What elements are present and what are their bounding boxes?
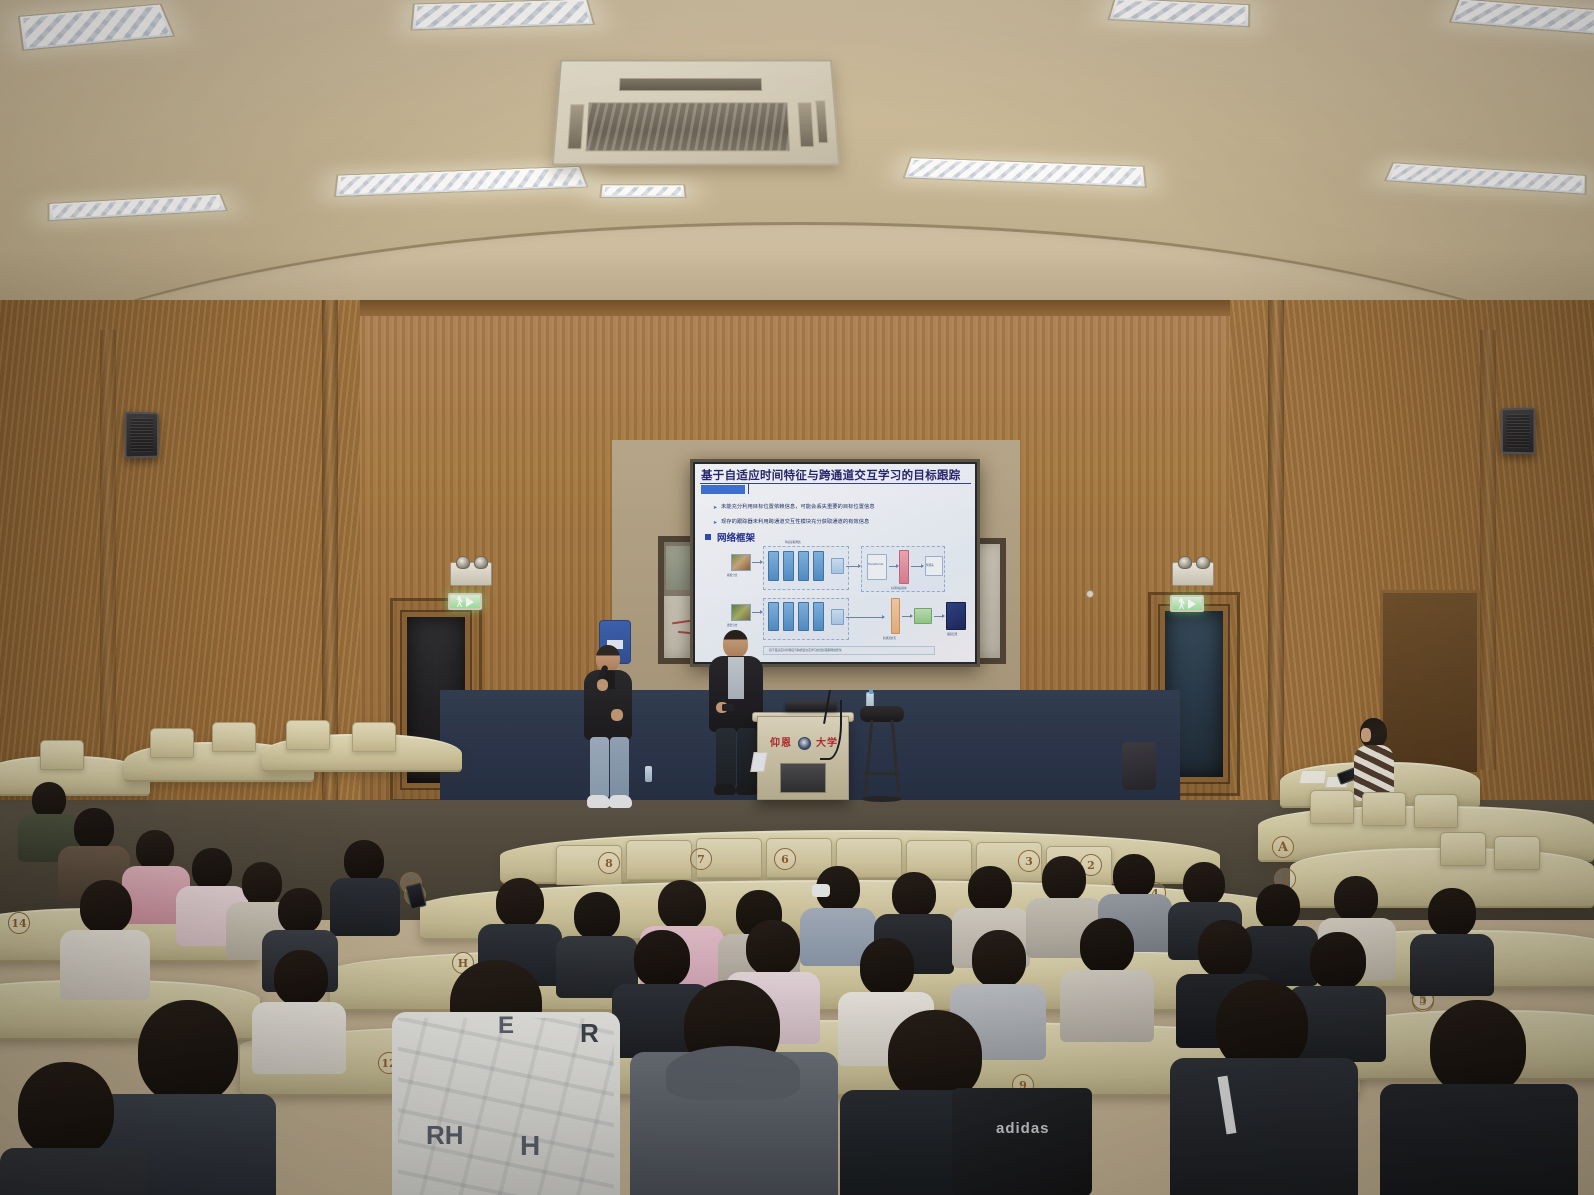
lecture-hall-photo: 基于自适应时间特征与跨通道交互学习的目标跟踪 ➤ 未能充分利用目标位置依赖信息，… [0, 0, 1594, 1195]
diagram-crosschannel-module [891, 598, 900, 634]
emergency-light-right [1172, 562, 1214, 586]
diagram-conv-block [768, 602, 779, 631]
seat-number: 6 [774, 848, 796, 870]
diagram-label-neck: Transformer [868, 563, 884, 566]
slide-text-caret [748, 484, 749, 494]
seated-audience-member [60, 880, 152, 990]
stool-base [862, 796, 902, 802]
seated-audience-member [0, 1062, 150, 1195]
diagram-template-image [731, 554, 751, 571]
jacket-letter: RH [426, 1120, 464, 1151]
bullet-marker-icon: ➤ [713, 505, 718, 510]
seat-number: 8 [598, 852, 620, 874]
torso [0, 1148, 148, 1195]
emergency-lamp [456, 556, 470, 569]
head [1042, 856, 1086, 902]
diagram-pool-block [831, 609, 844, 625]
diagram-arrow [752, 612, 762, 613]
stool-leg [864, 720, 874, 798]
emergency-lamp [474, 556, 488, 569]
diagram-conv-block [768, 551, 779, 581]
wall-pillar [100, 330, 116, 770]
diagram-label-module-b: 跨通道交互 [883, 636, 896, 640]
chair-floor-right [1122, 742, 1156, 790]
backpack [952, 1088, 1092, 1195]
diagram-label-head: 预测头 [926, 563, 934, 567]
ac-side-slot [567, 104, 584, 149]
leg-jeans [610, 737, 629, 799]
slide-bullet: 现存的跟踪器未利用跨通道交互性模块充分获取通道的有效信息 [721, 519, 969, 525]
diagram-conv-block [813, 551, 824, 581]
seat-back [1440, 832, 1486, 866]
presentation-clicker[interactable] [722, 704, 734, 711]
seat-back [286, 720, 330, 750]
ac-side-slot [815, 100, 828, 143]
face-mask-icon [812, 884, 830, 897]
bar-stool [860, 706, 904, 802]
diagram-pool-block [831, 558, 844, 574]
stool-footrest [864, 772, 900, 775]
emergency-light-left [450, 562, 492, 586]
seated-audience-member [1410, 888, 1496, 988]
head [1334, 876, 1378, 922]
seat-back [1494, 836, 1540, 870]
diagram-temporal-module [899, 550, 909, 584]
torso [1170, 1058, 1358, 1195]
diagram-fusion-block [914, 608, 932, 624]
seat-number: 7 [690, 848, 712, 870]
diagram-transformer-block [867, 554, 887, 580]
seated-audience-member [1060, 918, 1156, 1034]
face [1361, 728, 1371, 742]
head [1430, 1000, 1526, 1096]
torso [1410, 934, 1494, 996]
jacket-letter: H [520, 1130, 540, 1162]
ac-side-slot [797, 102, 814, 147]
head [1113, 854, 1155, 898]
seat-back [40, 740, 84, 770]
diagram-caption: 基于自适应时间特征与跨通道交互学习的目标跟踪网络框架 [769, 648, 842, 652]
leg-jeans [590, 737, 609, 799]
emergency-lamp [1178, 556, 1192, 569]
diagram-arrow [902, 616, 912, 617]
shoe [609, 795, 632, 808]
diagram-label-output: 跟踪结果 [947, 632, 957, 636]
head [892, 872, 936, 918]
wall-pillar [1268, 300, 1284, 800]
emergency-exit-sign-right [1170, 595, 1204, 612]
diagram-arrow [934, 616, 944, 617]
hand [597, 679, 608, 691]
hand [611, 709, 623, 721]
bullet-marker-icon: ➤ [713, 520, 718, 525]
seated-audience-member [330, 840, 402, 932]
diagram-output-image [946, 602, 966, 630]
ac-grille [586, 102, 791, 151]
diagram-label-backbone: 特征提取网络 [785, 540, 801, 544]
wall-sensor-icon [1086, 590, 1094, 598]
head [1428, 888, 1476, 938]
head [1183, 862, 1225, 906]
diagram-arrow [889, 566, 898, 567]
diagram-arrow [846, 566, 860, 567]
paper-on-desk [1299, 770, 1327, 784]
ceiling-cassette-air-conditioner [552, 60, 841, 166]
diagram-conv-block [783, 602, 794, 631]
hoodie-hood [666, 1046, 800, 1100]
head [746, 920, 800, 976]
diagram-conv-block [798, 551, 809, 581]
diagram-conv-block [813, 602, 824, 631]
diagram-arrow [911, 566, 923, 567]
seat-back [352, 722, 396, 752]
seated-audience-member: RH H E R [392, 960, 622, 1195]
head [968, 866, 1012, 912]
seat-number: 14 [8, 912, 30, 934]
seated-audience-member [1380, 1000, 1580, 1195]
diagram-arrow [846, 617, 884, 618]
head [723, 630, 748, 658]
shoe [587, 795, 610, 808]
slide-bullet: 未能充分利用目标位置依赖信息，可能会丢失重要的目标位置信息 [721, 504, 969, 510]
torso [330, 878, 400, 936]
ac-vent [619, 78, 762, 91]
head [80, 880, 132, 934]
water-bottle-floor [645, 766, 652, 782]
stool-seat [860, 706, 904, 722]
head [274, 950, 328, 1006]
exit-arrow-icon [466, 597, 474, 607]
seat-back [150, 728, 194, 758]
diagram-conv-block [783, 551, 794, 581]
head [658, 880, 706, 930]
ceiling-light-panel [599, 184, 687, 198]
head [1198, 920, 1252, 978]
wall-speaker-left [125, 412, 159, 459]
seat-back [1414, 794, 1458, 828]
torso [1380, 1084, 1578, 1195]
seated-audience-member [1170, 980, 1360, 1195]
torso [60, 930, 150, 1000]
head [344, 840, 384, 882]
head [74, 808, 114, 850]
diagram-arrow [752, 562, 762, 563]
slide-text-selection [701, 485, 745, 494]
head [278, 888, 322, 934]
leg-trousers [716, 728, 736, 788]
running-man-icon [456, 596, 463, 607]
slide-title: 基于自适应时间特征与跨通道交互学习的目标跟踪 [701, 469, 969, 482]
wall-pillar [1480, 330, 1496, 770]
shoe [736, 784, 758, 795]
diagram-conv-block [798, 602, 809, 631]
diagram-search-image [731, 604, 751, 621]
wall-speaker-right [1501, 408, 1535, 455]
podium-front-panel [780, 763, 826, 793]
seat-back [1362, 792, 1406, 826]
emergency-exit-sign-left [448, 593, 482, 610]
head [18, 1062, 114, 1158]
emergency-lamp [1196, 556, 1210, 569]
diagram-label-search-branch: 搜索分支 [727, 623, 737, 627]
section-bullet-icon [705, 534, 711, 540]
head [138, 1000, 238, 1104]
head [860, 938, 914, 996]
seat-back [1310, 790, 1354, 824]
head [496, 878, 544, 928]
presenter-with-microphone [578, 645, 642, 815]
jacket-letter: R [580, 1018, 599, 1049]
head [136, 830, 174, 870]
seated-audience-member [630, 980, 840, 1195]
exit-arrow-icon [1188, 599, 1196, 609]
running-man-icon [1178, 598, 1185, 609]
torso [1060, 970, 1154, 1042]
head [1080, 918, 1134, 974]
backpack-logo: adidas [996, 1120, 1050, 1137]
seat-back [212, 722, 256, 752]
jacket-letter: E [498, 1012, 514, 1040]
diagram-label-template-branch: 模板分支 [727, 573, 737, 577]
seat-back [626, 840, 692, 880]
seat-row-letter: A [1272, 836, 1294, 858]
shoe [714, 784, 736, 795]
diagram-label-module-a: 时间特征模块 [891, 586, 907, 590]
dress-shirt [728, 657, 744, 699]
stool-leg [891, 720, 901, 798]
head [972, 930, 1026, 988]
